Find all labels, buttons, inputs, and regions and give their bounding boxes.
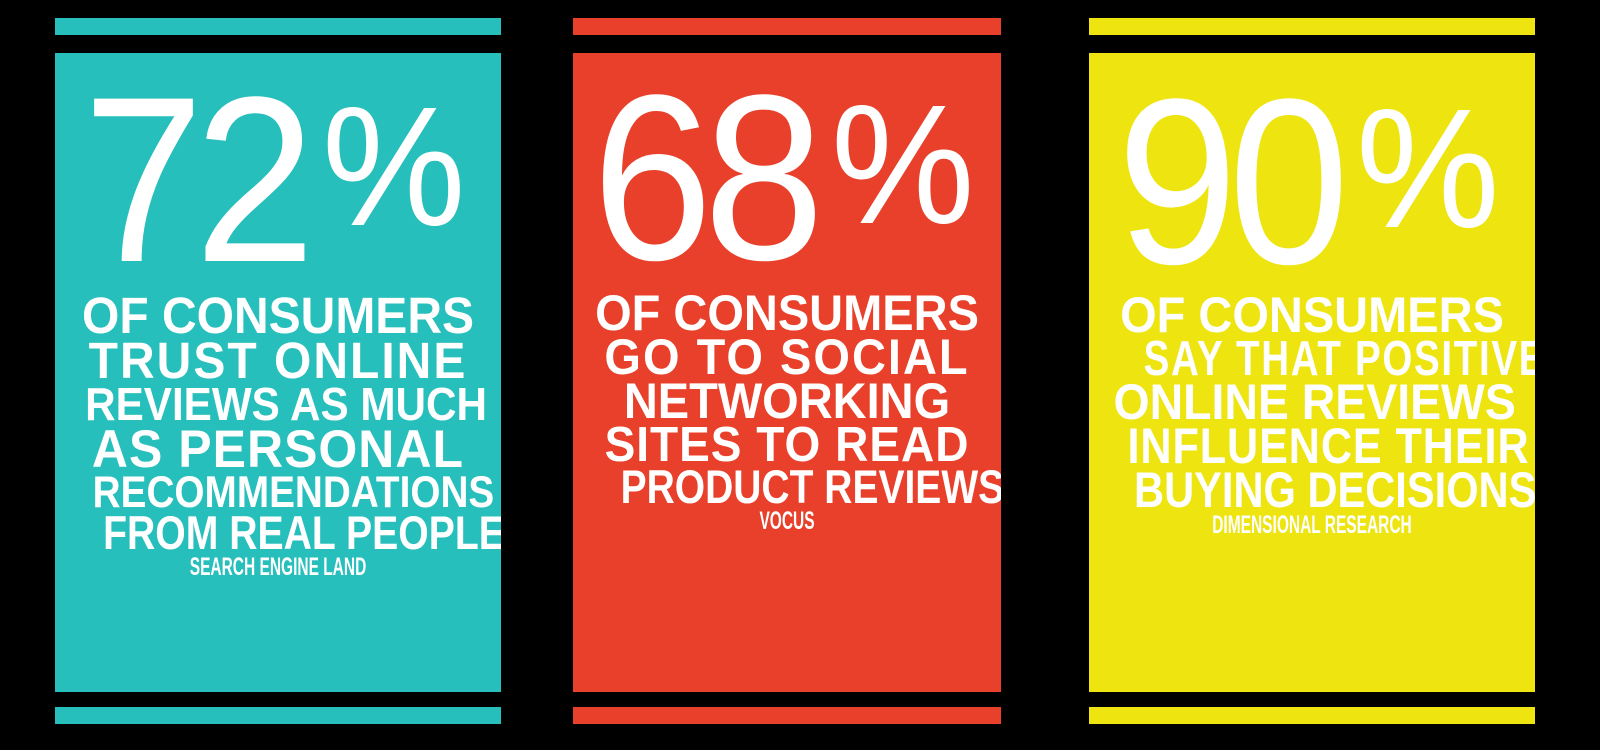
infographic-board: 72 % OF CONSUMERS TRUST ONLINE REVIEWS A…	[0, 0, 1600, 750]
source-attribution: DIMENSIONAL RESEARCH	[1187, 512, 1436, 538]
source-attribution: VOCUS	[668, 508, 906, 534]
stat-panel-2: 68 % OF CONSUMERS GO TO SOCIAL NETWORKIN…	[573, 0, 1001, 750]
accent-bar-bottom	[1089, 707, 1535, 724]
accent-bar-top	[573, 18, 1001, 35]
stat-panel-1: 72 % OF CONSUMERS TRUST ONLINE REVIEWS A…	[55, 0, 501, 750]
caption-block: OF CONSUMERS SAY THAT POSITIVE ONLINE RE…	[1111, 291, 1513, 510]
stat-panel-3: 90 % OF CONSUMERS SAY THAT POSITIVE ONLI…	[1089, 0, 1535, 750]
caption-block: OF CONSUMERS TRUST ONLINE REVIEWS AS MUC…	[77, 293, 479, 552]
accent-bar-top	[55, 18, 501, 35]
accent-bar-bottom	[573, 707, 1001, 724]
stat-card: 90 % OF CONSUMERS SAY THAT POSITIVE ONLI…	[1089, 53, 1535, 692]
source-attribution: SEARCH ENGINE LAND	[153, 554, 402, 580]
stat-card: 68 % OF CONSUMERS GO TO SOCIAL NETWORKIN…	[573, 53, 1001, 692]
percent-symbol: %	[831, 87, 975, 243]
percent-symbol: %	[322, 89, 466, 245]
caption-line: PRODUCT REVIEWS	[621, 463, 954, 511]
stat-figure: 90 %	[1111, 85, 1513, 281]
stat-number: 72	[83, 83, 306, 279]
stat-number: 68	[592, 81, 815, 277]
accent-bar-bottom	[55, 707, 501, 724]
stat-card: 72 % OF CONSUMERS TRUST ONLINE REVIEWS A…	[55, 53, 501, 692]
stat-number: 90	[1117, 85, 1340, 281]
stat-figure: 72 %	[77, 83, 479, 279]
percent-symbol: %	[1356, 91, 1500, 247]
caption-line: BUYING DECISIONS	[1134, 464, 1490, 514]
accent-bar-top	[1089, 18, 1535, 35]
stat-figure: 68 %	[595, 81, 979, 277]
caption-block: OF CONSUMERS GO TO SOCIAL NETWORKING SIT…	[595, 289, 979, 506]
caption-line: FROM REAL PEOPLE	[103, 509, 453, 557]
